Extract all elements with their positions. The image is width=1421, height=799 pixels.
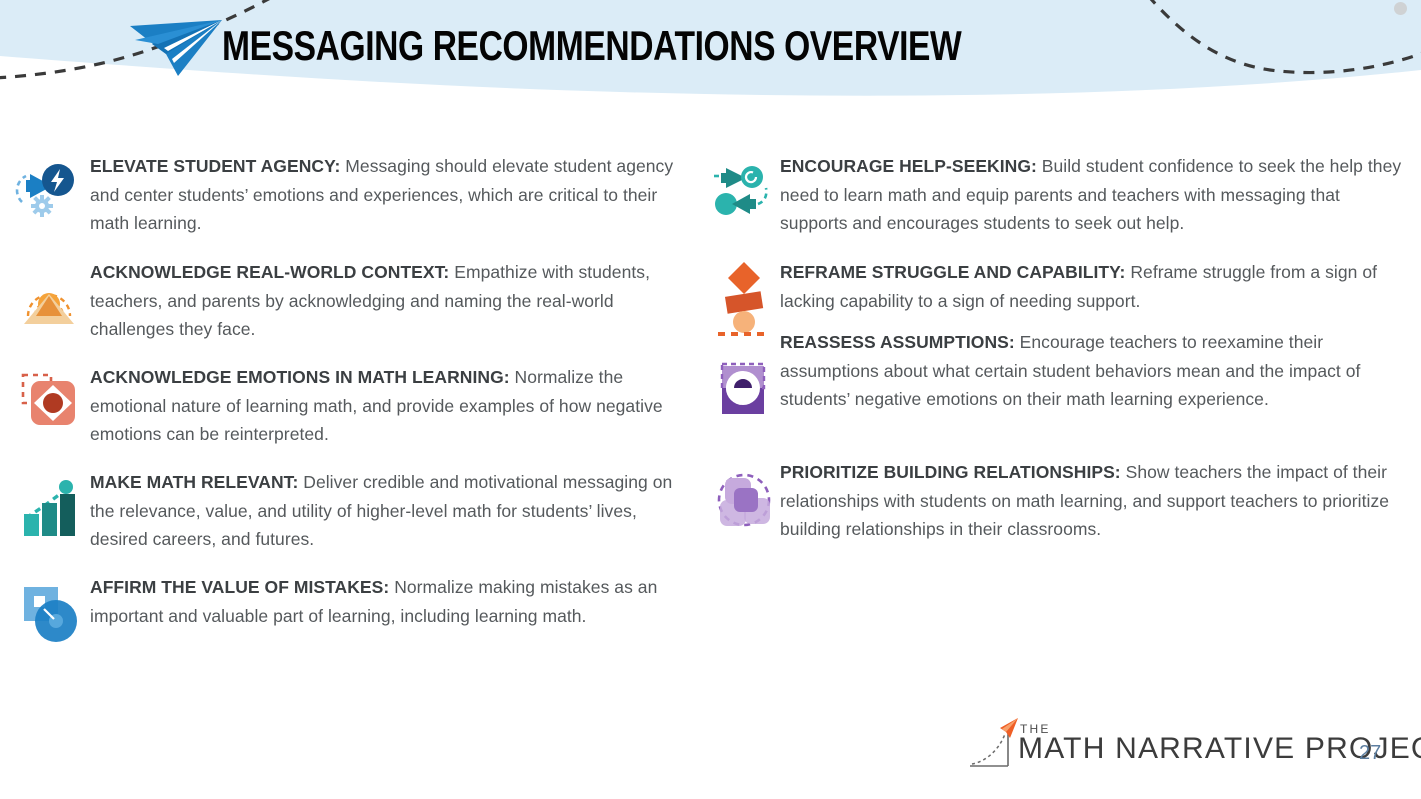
recommendation-item[interactable]: ACKNOWLEDGE EMOTIONS IN MATH LEARNING: N… (0, 363, 700, 463)
recommendation-item[interactable]: ACKNOWLEDGE REAL-WORLD CONTEXT: Empathiz… (0, 258, 700, 358)
recommendation-text: REASSESS ASSUMPTIONS: Encourage teachers… (780, 328, 1405, 414)
recommendation-text: REFRAME STRUGGLE AND CAPABILITY: Reframe… (780, 258, 1405, 315)
stacked-shapes-balance-icon (710, 254, 778, 338)
recommendation-item[interactable]: PRIORITIZE BUILDING RELATIONSHIPS: Show … (700, 458, 1421, 568)
corner-dot-decoration (1394, 2, 1407, 15)
slide-header: MESSAGING RECOMMENDATIONS OVERVIEW (0, 0, 1421, 110)
recommendation-heading: ACKNOWLEDGE REAL-WORLD CONTEXT: (90, 262, 449, 282)
two-megaphones-dialogue-icon (700, 156, 778, 234)
diamond-target-icon (14, 367, 84, 437)
recommendation-heading: REFRAME STRUGGLE AND CAPABILITY: (780, 262, 1125, 282)
paper-plane-icon (122, 14, 230, 78)
slide-footer: THE MATH NARRATIVE PROJECT (0, 700, 1421, 799)
recommendation-text: PRIORITIZE BUILDING RELATIONSHIPS: Show … (780, 458, 1405, 544)
page-number: 27 (1359, 742, 1381, 765)
recommendation-item[interactable]: ENCOURAGE HELP-SEEKING: Build student co… (700, 152, 1421, 252)
page-title: MESSAGING RECOMMENDATIONS OVERVIEW (222, 22, 961, 70)
megaphone-lightning-gear-icon (14, 156, 84, 226)
purple-donut-square-icon (710, 356, 776, 422)
recommendation-item[interactable]: MAKE MATH RELEVANT: Deliver credible and… (0, 468, 700, 578)
recommendation-heading: MAKE MATH RELEVANT: (90, 472, 298, 492)
three-rounded-squares-group-icon (708, 464, 780, 536)
recommendation-item[interactable]: REASSESS ASSUMPTIONS: Encourage teachers… (700, 328, 1421, 453)
orange-paper-plane-graph-icon (962, 716, 1024, 772)
recommendation-text: MAKE MATH RELEVANT: Deliver credible and… (90, 468, 675, 554)
recommendation-heading: ACKNOWLEDGE EMOTIONS IN MATH LEARNING: (90, 367, 510, 387)
recommendation-heading: ENCOURAGE HELP-SEEKING: (780, 156, 1037, 176)
recommendations-grid: ELEVATE STUDENT AGENCY: Messaging should… (0, 110, 1421, 690)
recommendation-item[interactable]: AFFIRM THE VALUE OF MISTAKES: Normalize … (0, 573, 700, 673)
sunrise-mountain-icon (14, 262, 84, 332)
brand-logo: THE MATH NARRATIVE PROJECT (962, 714, 1322, 774)
recommendation-text: ELEVATE STUDENT AGENCY: Messaging should… (90, 152, 675, 238)
recommendation-heading: REASSESS ASSUMPTIONS: (780, 332, 1015, 352)
recommendation-text: AFFIRM THE VALUE OF MISTAKES: Normalize … (90, 573, 675, 630)
recommendation-text: ENCOURAGE HELP-SEEKING: Build student co… (780, 152, 1405, 238)
recommendation-heading: ELEVATE STUDENT AGENCY: (90, 156, 340, 176)
recommendation-item[interactable]: ELEVATE STUDENT AGENCY: Messaging should… (0, 152, 700, 252)
square-circle-overlap-icon (14, 577, 84, 647)
recommendation-heading: AFFIRM THE VALUE OF MISTAKES: (90, 577, 389, 597)
recommendation-text: ACKNOWLEDGE EMOTIONS IN MATH LEARNING: N… (90, 363, 675, 449)
bar-chart-growth-icon (14, 472, 84, 542)
recommendation-text: ACKNOWLEDGE REAL-WORLD CONTEXT: Empathiz… (90, 258, 675, 344)
recommendation-heading: PRIORITIZE BUILDING RELATIONSHIPS: (780, 462, 1121, 482)
